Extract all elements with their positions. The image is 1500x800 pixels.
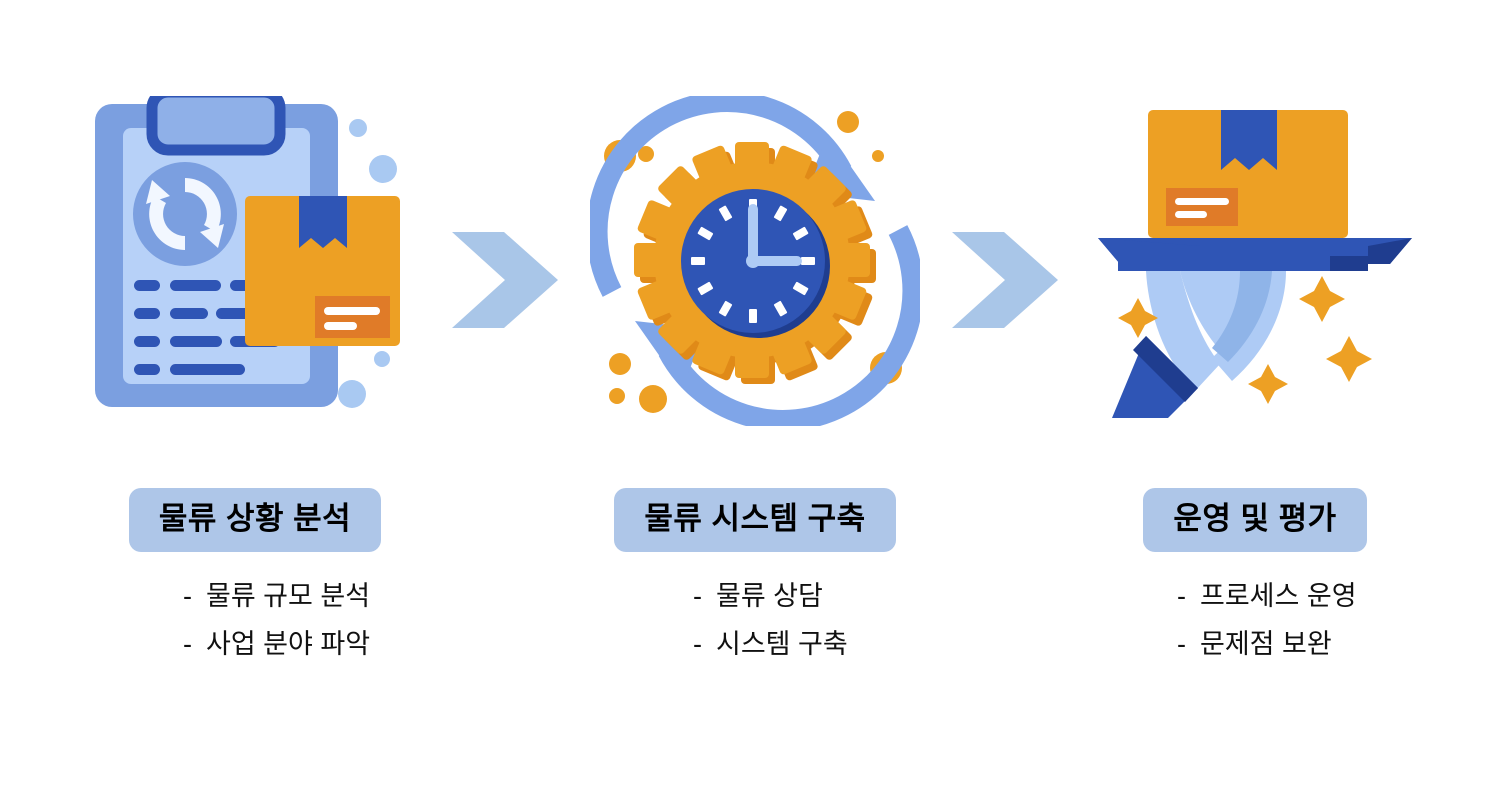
sparkle-star (1326, 336, 1372, 382)
bullet-dash: - (183, 580, 192, 614)
decor-dot (369, 155, 397, 183)
tray-right-shade-2 (1330, 256, 1368, 271)
bullet-text: 시스템 구축 (716, 628, 848, 662)
bullet-text: 문제점 보완 (1200, 628, 1332, 662)
bullet-dash: - (1177, 580, 1186, 614)
bullet-dash: - (693, 580, 702, 614)
step-bullets-3: - 프로세스 운영 - 문제점 보완 (1065, 580, 1445, 663)
step-bullets-1: - 물류 규모 분석 - 사업 분야 파악 (65, 580, 445, 663)
process-step-2: 물류 시스템 구축 - 물류 상담 - 시스템 구축 (565, 0, 945, 662)
clipboard-report-with-box-icon (90, 96, 420, 426)
refresh-circle-bg (133, 162, 237, 266)
box-ribbon (1221, 110, 1277, 170)
bullet-item: - 물류 상담 (693, 580, 823, 614)
bullet-item: - 시스템 구축 (693, 628, 848, 662)
box-label (315, 296, 390, 338)
bullet-dash: - (693, 628, 702, 662)
bullet-text: 물류 상담 (716, 580, 823, 614)
clipboard-clip (152, 96, 280, 150)
decor-dot (338, 380, 366, 408)
chevron-right-icon (452, 232, 558, 328)
sparkle-star (1248, 364, 1288, 404)
bullet-text: 프로세스 운영 (1200, 580, 1357, 614)
box-label (1166, 188, 1238, 226)
box-ribbon (299, 196, 347, 248)
bullet-text: 사업 분야 파악 (206, 628, 370, 662)
step-title-3: 운영 및 평가 (1143, 488, 1366, 552)
process-step-1: 물류 상황 분석 - 물류 규모 분석 - 사업 분야 파악 (65, 0, 445, 662)
bullet-dash: - (1177, 628, 1186, 662)
box-label-line (1175, 211, 1207, 218)
step-title-1: 물류 상황 분석 (129, 488, 381, 552)
clock-center (746, 254, 760, 268)
box-label-line (324, 307, 380, 315)
sparkle-star (1299, 276, 1345, 322)
bullet-item: - 물류 규모 분석 (183, 580, 370, 614)
chevron-right-icon (952, 232, 1058, 328)
connector-2 (945, 0, 1065, 328)
gear-clock-cycle-icon (590, 96, 920, 426)
process-step-3: 운영 및 평가 - 프로세스 운영 - 문제점 보완 (1065, 0, 1445, 662)
connector-1 (445, 0, 565, 328)
step-bullets-2: - 물류 상담 - 시스템 구축 (565, 580, 945, 663)
process-diagram: 물류 상황 분석 - 물류 규모 분석 - 사업 분야 파악 (0, 0, 1500, 800)
bullet-dash: - (183, 628, 192, 662)
decor-dot (349, 119, 367, 137)
step-title-2: 물류 시스템 구축 (614, 488, 895, 552)
decor-dot (374, 351, 390, 367)
bullet-item: - 프로세스 운영 (1177, 580, 1357, 614)
bullet-item: - 문제점 보완 (1177, 628, 1332, 662)
box-label-line (324, 322, 357, 330)
hand-tray-delivery-box-icon (1090, 96, 1420, 426)
box-label-line (1175, 198, 1229, 205)
bullet-item: - 사업 분야 파악 (183, 628, 370, 662)
bullet-text: 물류 규모 분석 (206, 580, 370, 614)
